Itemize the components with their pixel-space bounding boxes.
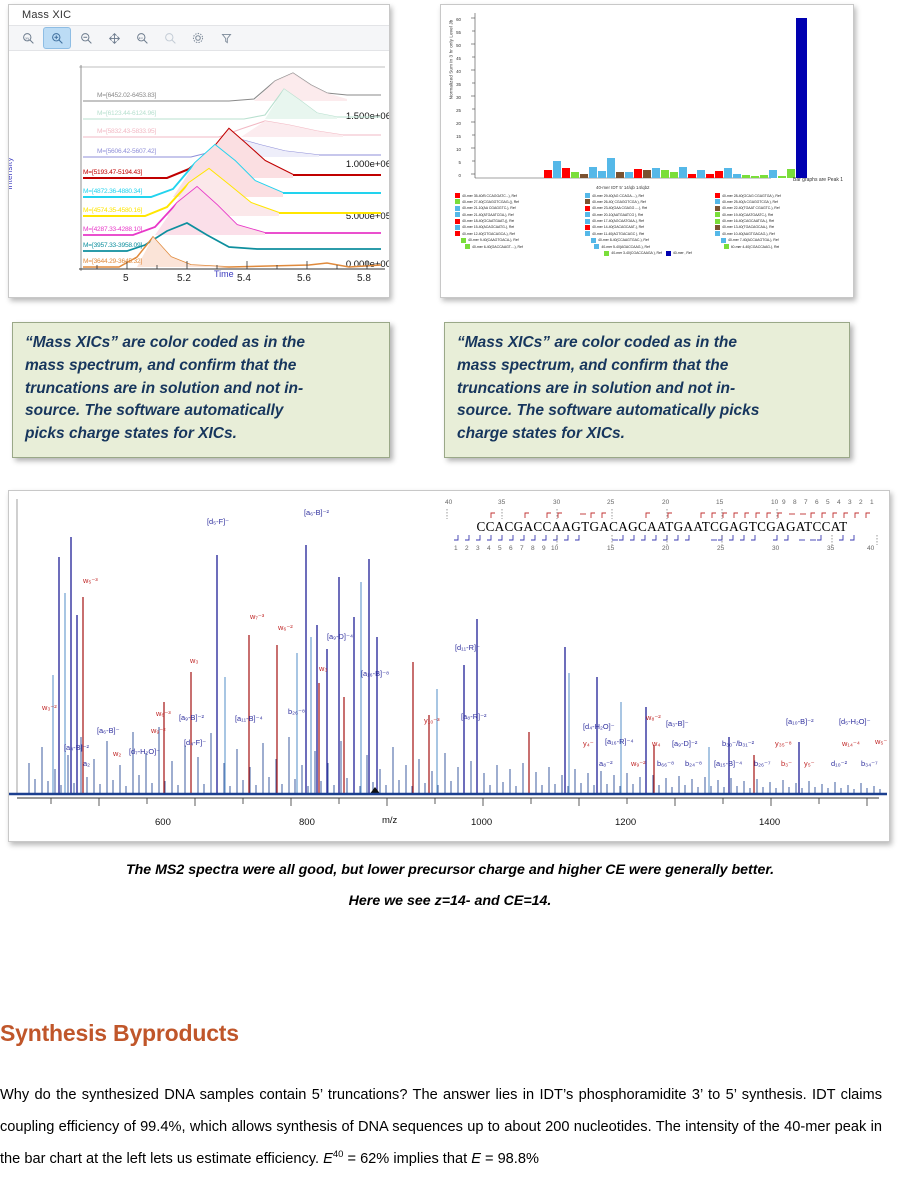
bar-y-tick-11: 5 — [447, 160, 461, 165]
legend-swatch — [455, 199, 460, 204]
body-paragraph: Why do the synthesized DNA samples conta… — [0, 1079, 882, 1176]
legend-label: 40-mer 20-10(AATGAATCG ), Ref — [592, 213, 643, 217]
ms2-x-axis-label: m/z — [382, 815, 397, 826]
legend-item[interactable]: 40-mer 28-40(GCAG CGAGTGA ), Ref — [715, 193, 841, 198]
legend-swatch — [585, 225, 590, 230]
legend-swatch — [715, 225, 720, 230]
peak-label: [a₉-D]⁻² — [672, 739, 697, 748]
legend-item[interactable]: 40-mer 29-40(AG CCAGA-...), Ref — [585, 193, 711, 198]
legend-row: 40-mer 12-40(GTGACAGCA-), Ref 40-mer 11-… — [447, 231, 849, 236]
bar-y-tick-4: 40 — [447, 69, 461, 74]
legend-label: 40-mer 21-40(ATGAATCGA-), Ref — [462, 213, 514, 217]
peak-label: w₆⁻² — [278, 623, 293, 632]
legend-label: 40-mer 25-40(A CGAGGTCGA ), Ref — [722, 200, 778, 204]
xic-toolbar: xy ↤ — [9, 25, 389, 51]
callout-right-line-0: “Mass XICs” are color coded as in the — [457, 332, 837, 355]
peak-label: b₂₆⁻⁷ — [754, 759, 771, 768]
peak-label: b₂₆⁻⁸ — [288, 707, 305, 716]
peak-label: w₇⁻³ — [250, 612, 264, 621]
ms2-x-tick-1: 800 — [299, 817, 315, 828]
peak-label: w₉⁻² — [631, 759, 646, 768]
bar-chart-window: Normalized Sum in 3 hr only Level Jb 60 … — [440, 4, 854, 298]
legend-item[interactable]: 40-mer 15-40(ACAGCAATG-), Ref — [455, 225, 581, 230]
section-heading: Synthesis Byproducts — [0, 1020, 239, 1047]
legend-label: 40-mer 26-40( CGAGGTCGA ), Ref — [592, 200, 646, 204]
bar-y-tick-3: 45 — [447, 56, 461, 61]
legend-swatch — [585, 199, 590, 204]
legend-item[interactable]: 40-mer 35-40/B CCAGGATC...), Ref — [455, 193, 581, 198]
legend-label: 40-mer 6-40(GACCAAGT-...), Ref — [472, 245, 523, 249]
pan-icon[interactable] — [101, 28, 127, 48]
legend-label: 40-mer 9-40(CAAGTGACA-), Ref — [468, 238, 519, 242]
peak-label: [a₃-B]⁻ — [666, 719, 689, 728]
legend-swatch — [455, 219, 460, 224]
peak-label: [a₁₅-B]⁻⁴ — [714, 759, 742, 768]
legend-swatch — [585, 231, 590, 236]
ms2-x-tick-2: 1000 — [471, 817, 492, 828]
legend-item[interactable]: 40-mer 7-40(ACCAAGTGA-), Ref — [721, 238, 847, 243]
peak-label: w₁₄⁻⁴ — [842, 739, 860, 748]
bar-chart-svg — [471, 13, 811, 183]
body-text-part-3: = 98.8% — [481, 1151, 539, 1167]
callout-left-line-3: source. The software automatically — [25, 400, 377, 423]
callout-right-line-4: charge states for XICs. — [457, 423, 837, 446]
legend-item[interactable]: 40-mer 8-40(CCAAGTGAC-), Ref — [591, 238, 717, 243]
figure-caption-line-2: Here we see z=14- and CE=14. — [0, 893, 900, 909]
zoom-fit-icon[interactable] — [157, 28, 183, 48]
legend-label: 40-mer 5-40(AGACCAAG-), Ref — [601, 245, 649, 249]
legend-swatch — [715, 219, 720, 224]
bar-y-tick-10: 10 — [447, 147, 461, 152]
legend-swatch — [455, 212, 460, 217]
legend-item[interactable]: 40-mer 13-40(TGACAGCAA-), Ref — [715, 225, 841, 230]
peak-label: [d₅-H₂O]⁻ — [839, 717, 871, 726]
zoom-out-icon[interactable] — [73, 28, 99, 48]
svg-text:↤: ↤ — [138, 35, 142, 40]
peak-label: b₂₄⁻⁸ — [685, 759, 702, 768]
legend-label: 40-mer 11-40(AGTGACAGC ), Ref — [592, 232, 644, 236]
ms2-x-tick-4: 1400 — [759, 817, 780, 828]
legend-item[interactable]: 40-mer 4-40(CGACCAAG-), Ref — [724, 244, 849, 249]
callout-right-line-1: mass spectrum, and confirm that the — [457, 355, 837, 378]
peak-label: w₉⁻² — [151, 726, 166, 735]
peak-label: w₄ — [652, 739, 660, 748]
peak-label: [a₆-B]⁻ — [97, 726, 120, 735]
legend-label: 40-mer 15-40(ACAGCAATG-), Ref — [462, 225, 514, 229]
document-page: Mass XIC xy ↤ — [0, 0, 900, 1199]
legend-swatch — [715, 206, 720, 211]
legend-label: 40-mer 10-40(AAGTGACAG-), Ref — [722, 232, 775, 236]
legend-swatch — [724, 244, 729, 249]
peak-label: [d₁₁-R]⁻ — [455, 643, 480, 652]
peak-label: [d₄-F]⁻ — [184, 738, 206, 747]
legend-item[interactable]: 40-mer 6-40(GACCAAGT-...), Ref — [465, 244, 590, 249]
legend-swatch — [666, 251, 671, 256]
legend-item[interactable]: 40-mer 17-40(AGCAATGAA-), Ref — [585, 219, 711, 224]
legend-label: 40-mer 12-40(GTGACAGCA-), Ref — [462, 232, 515, 236]
legend-swatch — [461, 238, 466, 243]
peak-label: [a₁₁-B]⁻⁴ — [235, 714, 263, 723]
peak-label: b₃⁻ — [781, 759, 792, 768]
xic-x-tick-2: 5.4 — [237, 273, 251, 284]
legend-swatch — [465, 244, 470, 249]
legend-item[interactable]: 40-mer 20-10(AATGAATCG ), Ref — [585, 212, 711, 217]
legend-row: 40-mer 18-40(GCAATGAAT-(), Ref 40-mer 17… — [447, 219, 849, 224]
bar-y-tick-6: 30 — [447, 95, 461, 100]
peak-label: a₂ — [83, 759, 90, 768]
peak-label: [a₉-D]⁻⁴ — [327, 632, 353, 641]
peak-label: b₆₆⁻⁸ — [657, 759, 674, 768]
legend-label: 40-mer 21-10(AA CGAGGTC-), Ref — [462, 206, 516, 210]
legend-swatch — [604, 251, 609, 256]
peak-label: b₃₄⁻⁷ — [861, 759, 878, 768]
xic-x-axis-label: Time — [214, 269, 234, 279]
peak-label: w₃ — [319, 664, 327, 673]
legend-item[interactable]: 40-mer 22-40(TGAAT CGAGTC-), Ref — [715, 206, 841, 211]
bar-chart-legend: 40-mer 35-40/B CCAGGATC...), Ref 40-mer … — [447, 193, 849, 257]
peak-label: [a₁₆-B]⁻⁸ — [361, 669, 389, 678]
legend-row: 40-mer 27-40(CGAGGTCGAG-(), Ref 40-mer 2… — [447, 199, 849, 204]
legend-row: 40-mer 9-40(CAAGTGACA-), Ref 40-mer 8-40… — [447, 238, 849, 243]
bar-y-tick-12: 0 — [447, 173, 461, 178]
e-exponent: 40 — [333, 1150, 344, 1161]
peak-label: d₁₀⁻² — [831, 759, 847, 768]
peak-label: y₄⁻ — [583, 739, 594, 748]
legend-label: 40-mer 22-40(TGAAT CGAGTC-), Ref — [722, 206, 780, 210]
body-text-part-2: = 62% implies that — [343, 1151, 471, 1167]
legend-swatch — [715, 212, 720, 217]
legend-label: 40-mer 17-40(AGCAATGAA-), Ref — [592, 219, 644, 223]
xic-y-axis-label: Intensity — [8, 157, 14, 190]
legend-swatch — [715, 199, 720, 204]
legend-swatch — [585, 206, 590, 211]
zoom-reset-icon[interactable]: ↤ — [129, 28, 155, 48]
mass-xic-window: Mass XIC xy ↤ — [8, 4, 390, 298]
legend-swatch — [594, 244, 599, 249]
peak-label: [a₁₀-B]⁻² — [786, 717, 814, 726]
bar-series-annotation: Bar graphs are Peak 1 — [793, 177, 843, 183]
callout-right-line-2: truncations are in solution and not in- — [457, 378, 837, 401]
xic-trace-label-4: M=[5193.47-5194.43] — [83, 169, 142, 176]
ms2-x-tick-0: 600 — [155, 817, 171, 828]
legend-item[interactable]: 40-mer 21-40(ATGAATCGA-), Ref — [455, 212, 581, 217]
legend-label: 40-mer 28-40(GCAG CGAGTGA ), Ref — [722, 194, 781, 198]
legend-item[interactable]: 40-mer 25-40(A CGAGGTCGA ), Ref — [715, 199, 841, 204]
xic-trace-label-2: M=[5832.43-5833.95] — [97, 128, 156, 135]
xic-trace-label-0: M=[6452.02-6453.83] — [97, 92, 156, 99]
legend-label: 40-mer 19-40(CAATGAATC-), Ref — [722, 213, 773, 217]
legend-item[interactable]: 40-mer 11-40(AGTGACAGC ), Ref — [585, 231, 711, 236]
legend-item[interactable]: 40-mer 19-40(CAATGAATC-), Ref — [715, 212, 841, 217]
legend-item[interactable]: 40-mer 5-40(AGACCAAG-), Ref — [594, 244, 719, 249]
peak-label: a₈⁻² — [599, 759, 613, 768]
xic-trace-label-1: M=[6123.44-6124.96] — [97, 110, 156, 117]
legend-swatch — [455, 225, 460, 230]
legend-label: 40-mer 27-40(CGAGGTCGAG-(), Ref — [462, 200, 519, 204]
peak-label: w₈⁻² — [646, 713, 661, 722]
callout-left-line-0: “Mass XICs” are color coded as in the — [25, 332, 377, 355]
peak-label: [a₆-B]⁻² — [304, 508, 329, 517]
bar-x-axis-label: 40-mer IDT 5' 14/qb 14/qb2 — [596, 185, 649, 190]
ms2-x-axis — [9, 797, 887, 813]
legend-row: 40-mer 35-40/B CCAGGATC...), Ref 40-mer … — [447, 193, 849, 198]
figure-caption-line-1: The MS2 spectra were all good, but lower… — [0, 862, 900, 878]
legend-item[interactable]: 40-mer , Ref — [666, 251, 692, 256]
callout-right-line-3: source. The software automatically picks — [457, 400, 837, 423]
legend-swatch — [585, 212, 590, 217]
legend-label: 40-mer 18-40(GCAATGAAT-(), Ref — [462, 219, 514, 223]
xic-x-tick-3: 5.6 — [297, 273, 311, 284]
legend-row: 40-mer 21-40(ATGAATCGA-), Ref 40-mer 20-… — [447, 212, 849, 217]
zoom-in-icon[interactable] — [43, 27, 71, 49]
bar-y-tick-0: 60 — [447, 17, 461, 22]
peak-label: w₆⁻³ — [156, 709, 171, 718]
legend-label: 40-mer 35-40/B CCAGGATC...), Ref — [462, 194, 517, 198]
peak-label: [d₇-H₂O]⁻ — [129, 747, 160, 756]
peak-label: b₃₀⁻/b₃₁⁻² — [722, 739, 754, 748]
zoom-region-icon[interactable]: xy — [15, 28, 41, 48]
legend-swatch — [455, 193, 460, 198]
peak-label: [a₈-R]⁻² — [461, 712, 486, 721]
peak-label: w₅⁻ — [875, 737, 887, 746]
peak-label: y₁₀⁻³ — [424, 716, 440, 725]
peak-label: y₅⁻ — [804, 759, 815, 768]
legend-item[interactable]: 40-mer 26-40( CGAGGTCGA ), Ref — [585, 199, 711, 204]
legend-label: 40-mer 13-40(TGACAGCAA-), Ref — [722, 225, 774, 229]
legend-item[interactable]: 40-mer 16-40(CAGCAATGA-), Ref — [715, 219, 841, 224]
legend-label: 40-mer 8-40(CCAAGTGAC-), Ref — [598, 238, 649, 242]
peak-label: w₃⁻² — [42, 703, 57, 712]
filter-icon[interactable] — [213, 28, 239, 48]
legend-row: 40-mer 3-40(CGACCAAGA ), Ref 40-mer , Re… — [447, 251, 849, 256]
legend-swatch — [585, 193, 590, 198]
legend-row: 40-mer 6-40(GACCAAGT-...), Ref 40-mer 5-… — [447, 244, 849, 249]
bar-y-tick-9: 15 — [447, 134, 461, 139]
peak-label: [a₁₆-R]⁻⁴ — [605, 737, 634, 746]
peak-label: [a₄-B]⁻² — [64, 743, 89, 752]
legend-item[interactable]: 40-mer 23-40(GAA CGAGG -...), Ref — [585, 206, 711, 211]
bar-y-tick-7: 25 — [447, 108, 461, 113]
ms2-x-tick-3: 1200 — [615, 817, 636, 828]
legend-item[interactable]: 40-mer 12-40(GTGACAGCA-), Ref — [455, 231, 581, 236]
legend-label: 40-mer 3-40(CGACCAAGA ), Ref — [611, 251, 662, 255]
peak-label: [d₄-H₂O]⁻ — [583, 722, 615, 731]
legend-swatch — [721, 238, 726, 243]
legend-label: 40-mer 23-40(GAA CGAGG -...), Ref — [592, 206, 647, 210]
xic-x-tick-0: 5 — [123, 273, 129, 284]
xic-trace-label-5: M=[4872.36-4880.34] — [83, 188, 142, 195]
peak-label: y₃₅⁻⁸ — [775, 739, 792, 748]
legend-swatch — [591, 238, 596, 243]
callout-left-line-4: picks charge states for XICs. — [25, 423, 377, 446]
legend-swatch — [715, 193, 720, 198]
bar-y-tick-1: 55 — [447, 30, 461, 35]
legend-item[interactable]: 40-mer 9-40(CAAGTGACA-), Ref — [461, 238, 587, 243]
xic-trace-label-6: M=[4574.35-4580.16] — [83, 207, 142, 214]
legend-label: 40-mer 7-40(ACCAAGTGA-), Ref — [728, 238, 779, 242]
xic-trace-label-7: M=[4287.33-4288.10] — [83, 226, 142, 233]
legend-swatch — [455, 231, 460, 236]
legend-item[interactable]: 40-mer 3-40(CGACCAAGA ), Ref — [604, 251, 662, 256]
callout-left: “Mass XICs” are color coded as in the ma… — [12, 322, 390, 458]
xic-x-tick-4: 5.8 — [357, 273, 371, 284]
peak-label: [a₉-B]⁻² — [179, 713, 204, 722]
legend-row: 40-mer 21-10(AA CGAGGTC-), Ref 40-mer 23… — [447, 206, 849, 211]
xic-trace-label-3: M=[5606.42-5607.42] — [97, 148, 156, 155]
ms2-spectrum-panel: 40 35 30 25 20 15 10 9 8 7 6 5 4 3 2 1 — [8, 490, 890, 842]
legend-swatch — [585, 219, 590, 224]
legend-label: 40-mer , Ref — [673, 251, 692, 255]
xic-trace-label-9: M=[3644.29-3645.32] — [83, 258, 142, 265]
e-symbol-2: E — [471, 1151, 481, 1167]
callout-left-line-1: mass spectrum, and confirm that the — [25, 355, 377, 378]
callout-left-line-2: truncations are in solution and not in- — [25, 378, 377, 401]
legend-swatch — [455, 206, 460, 211]
peak-label: w₃ — [190, 656, 198, 665]
xic-trace-label-8: M=[3957.33-3958.09] — [83, 242, 142, 249]
bar-y-tick-8: 20 — [447, 121, 461, 126]
peak-label: w₂ — [113, 749, 121, 758]
legend-item[interactable]: 40-mer 18-40(GCAATGAAT-(), Ref — [455, 219, 581, 224]
legend-row: 40-mer 15-40(ACAGCAATG-), Ref 40-mer 14-… — [447, 225, 849, 230]
peak-label: [d₅-F]⁻ — [207, 517, 229, 526]
legend-label: 40-mer 16-40(CAGCAATGA-), Ref — [722, 219, 774, 223]
peak-label: w₅⁻³ — [83, 576, 98, 585]
callout-right: “Mass XICs” are color coded as in the ma… — [444, 322, 850, 458]
bar-y-tick-5: 35 — [447, 82, 461, 87]
settings-gear-icon[interactable] — [185, 28, 211, 48]
legend-item[interactable]: 40-mer 14-40(GACAGCAAT-), Ref — [585, 225, 711, 230]
legend-item[interactable]: 40-mer 21-10(AA CGAGGTC-), Ref — [455, 206, 581, 211]
legend-label: 40-mer 14-40(GACAGCAAT-), Ref — [592, 225, 644, 229]
legend-item[interactable]: 40-mer 10-40(AAGTGACAG-), Ref — [715, 231, 841, 236]
legend-label: 40-mer 29-40(AG CCAGA-...), Ref — [592, 194, 644, 198]
legend-swatch — [715, 231, 720, 236]
legend-label: 40-mer 4-40(CGACCAAG-), Ref — [731, 245, 780, 249]
xic-window-title: Mass XIC — [9, 5, 389, 21]
e-symbol: E — [323, 1151, 333, 1167]
legend-item[interactable]: 40-mer 27-40(CGAGGTCGAG-(), Ref — [455, 199, 581, 204]
xic-plot-area[interactable]: Intensity 1.500e+06 1.000e+06 5.000e+05 … — [9, 51, 390, 295]
bar-y-tick-2: 50 — [447, 43, 461, 48]
xic-x-tick-1: 5.2 — [177, 273, 191, 284]
